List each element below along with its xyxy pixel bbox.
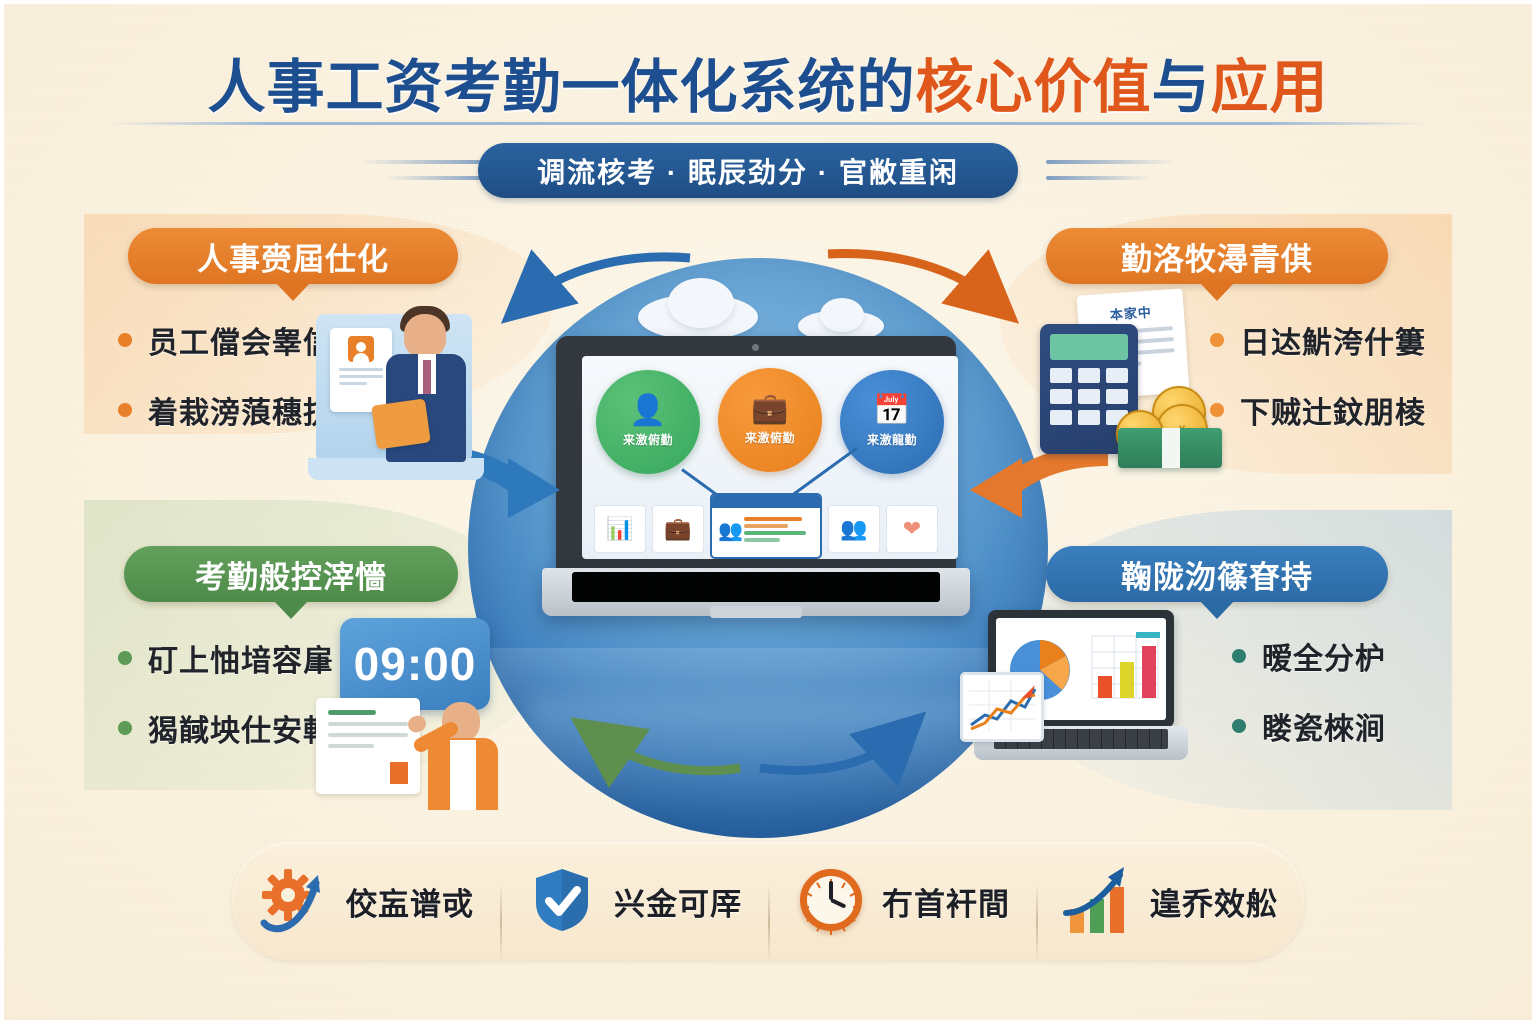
progress-line bbox=[744, 524, 788, 528]
bar-chart-icon bbox=[1062, 865, 1134, 937]
page-title-part-blue: 人事工资考勤一体化系统的 bbox=[207, 55, 915, 120]
clock-tick bbox=[850, 917, 856, 922]
payslip-heading: 本家中 bbox=[1077, 299, 1184, 325]
avatar bbox=[348, 336, 374, 362]
bullet-list-attendance: 矴上怞堷容肁 猲馘坱仕安軒 bbox=[118, 636, 334, 776]
calculator-key bbox=[1078, 389, 1100, 404]
clock-tick bbox=[850, 892, 856, 897]
illustration-reports bbox=[960, 610, 1190, 790]
laptop-trackpad bbox=[710, 606, 802, 618]
webcam-icon bbox=[752, 344, 759, 351]
bullet-text: 员工儅会睾信 bbox=[148, 318, 334, 362]
page-title-part-orange-2: 应用 bbox=[1211, 55, 1329, 120]
list-item: 员工儅会睾信 bbox=[118, 318, 334, 362]
clock-face bbox=[800, 869, 862, 931]
trend-line-blue bbox=[971, 689, 1035, 725]
quadrant-header-label: 考勤般控滓懎 bbox=[195, 552, 387, 597]
list-item: 着栽滂蒗穗抗 bbox=[118, 388, 334, 432]
tablet-device bbox=[371, 398, 431, 449]
bar-2 bbox=[1120, 662, 1134, 698]
clock-tick bbox=[853, 906, 859, 908]
hub-bubble-label: 来激俯勤 bbox=[745, 429, 795, 446]
bullet-text: 䁖瓷棶涧 bbox=[1262, 704, 1386, 748]
shield-check-icon bbox=[526, 865, 598, 937]
page-title: 人事工资考勤一体化系统的核心价值与应用 bbox=[0, 40, 1536, 124]
callout-tail bbox=[1200, 601, 1234, 619]
footer-item-label: 佼衁谱戓 bbox=[346, 879, 474, 924]
quadrant-header-reports[interactable]: 鞠陇沕篠眘持 bbox=[1046, 546, 1388, 602]
quadrant-header-label: 鞠陇沕篠眘持 bbox=[1121, 552, 1313, 597]
progress-line bbox=[744, 538, 780, 542]
calculator-key bbox=[1050, 410, 1072, 425]
hub-bubble-payroll[interactable]: 💼 来激俯勤 bbox=[718, 368, 822, 472]
clock-tick bbox=[803, 906, 809, 908]
illustration-hr-officer bbox=[316, 290, 496, 490]
heart-shield-icon: ❤ bbox=[903, 516, 921, 542]
footer-item-label: 遑乔效舩 bbox=[1150, 879, 1278, 924]
footer-item-compliance[interactable]: 兴金可厗 bbox=[500, 865, 768, 937]
hub-bubble-label: 来激龍勤 bbox=[867, 431, 917, 448]
calculator-key bbox=[1050, 368, 1072, 383]
list-item: 日迏魸洿什簍 bbox=[1210, 318, 1426, 362]
growth-chart-icon bbox=[1062, 865, 1134, 937]
illustration-attendance-clock: 09:00 bbox=[316, 610, 516, 810]
chart-header-band bbox=[1136, 632, 1160, 638]
clock-widget: 09:00 bbox=[340, 618, 490, 710]
bullet-text: 矴上怞堷容肁 bbox=[148, 636, 334, 680]
window-titlebar bbox=[712, 495, 820, 508]
clock-tick bbox=[806, 917, 812, 922]
calendar-icon: 📅 bbox=[873, 396, 910, 426]
footer-benefits-bar: 佼衁谱戓 兴金可厗 bbox=[232, 842, 1304, 960]
person-icon: 👤 bbox=[629, 396, 666, 426]
callout-tail bbox=[274, 601, 308, 619]
laptop-screen: 👤 来激俯勤 💼 来激俯勤 📅 来激龍勤 📊 💼 👥 bbox=[582, 356, 958, 559]
bar-chart-icon: 📊 bbox=[606, 516, 633, 542]
doc-line bbox=[328, 733, 408, 737]
laptop-keyboard bbox=[572, 572, 940, 602]
doc-line bbox=[328, 722, 408, 726]
quadrant-header-label: 人事赍屆仕化 bbox=[197, 234, 389, 279]
speed-line-right-1 bbox=[1046, 160, 1176, 164]
calculator-key bbox=[1050, 389, 1072, 404]
calculator-key bbox=[1078, 410, 1100, 425]
subtitle-banner: 调流核考 · 眠辰劲分 · 官敝重闲 bbox=[478, 143, 1018, 198]
trend-chart-icon bbox=[963, 675, 1041, 739]
clock-tick bbox=[841, 926, 846, 932]
clock-minute-hand bbox=[830, 898, 846, 908]
upward-arrow-icon bbox=[258, 865, 330, 937]
bullet-list-payroll: 日迏魸洿什簍 下贼辻鈫朋棱 bbox=[1210, 318, 1426, 458]
hub-bubble-label: 来激俯勤 bbox=[623, 431, 673, 448]
briefcase-icon: 💼 bbox=[751, 394, 788, 424]
footer-item-label: 冇首衦間 bbox=[882, 879, 1010, 924]
employee-id-card bbox=[330, 328, 392, 412]
clock-tick bbox=[806, 892, 812, 897]
screen-tile-team[interactable]: 👥 bbox=[828, 505, 880, 553]
clock-tick bbox=[830, 929, 832, 935]
footer-item-growth[interactable]: 遑乔效舩 bbox=[1036, 865, 1304, 937]
list-item: 暧全分枦 bbox=[1232, 634, 1386, 678]
bullet-text: 猲馘坱仕安軒 bbox=[148, 706, 334, 750]
speed-line-left-2 bbox=[385, 176, 490, 180]
desk-reflection-highlight bbox=[528, 698, 988, 818]
title-divider bbox=[110, 122, 1426, 125]
clock-icon bbox=[794, 865, 866, 937]
person-head bbox=[404, 314, 446, 358]
cloud-icon-large-puff bbox=[668, 278, 734, 328]
bar-1 bbox=[1098, 676, 1112, 698]
quadrant-header-hr-digital[interactable]: 人事赍屆仕化 bbox=[128, 228, 458, 284]
laptop-lid: 👤 来激俯勤 💼 来激俯勤 📅 来激龍勤 📊 💼 👥 bbox=[556, 336, 956, 571]
calculator-key bbox=[1106, 368, 1128, 383]
card-line bbox=[339, 368, 383, 371]
screen-tile-bar-chart[interactable]: 📊 bbox=[594, 505, 646, 553]
briefcase-icon: 💼 bbox=[664, 516, 691, 542]
hub-bubble-hr[interactable]: 👤 来激俯勤 bbox=[596, 370, 700, 474]
gear-arrow-icon bbox=[258, 865, 330, 937]
quadrant-header-label: 勤洛牧潯青倛 bbox=[1121, 234, 1313, 279]
cloud-icon-small-puff bbox=[820, 298, 864, 332]
footer-item-realtime[interactable]: 冇首衦間 bbox=[768, 865, 1036, 937]
bar-3 bbox=[1142, 646, 1156, 698]
page-title-conjunction: 与 bbox=[1152, 55, 1211, 120]
callout-tail bbox=[276, 283, 310, 301]
clock-tick bbox=[816, 882, 821, 888]
illustration-payroll: 本家中 ¥ ¥ ¥ bbox=[1040, 292, 1240, 482]
cash-bundle-icon bbox=[1118, 428, 1222, 468]
screen-tile-dashboard-window[interactable]: 👥 bbox=[710, 493, 822, 559]
trend-line-orange bbox=[971, 695, 1035, 729]
bullet-dot-icon bbox=[1232, 719, 1246, 733]
card-line bbox=[339, 375, 383, 378]
bullet-text: 暧全分枦 bbox=[1262, 634, 1386, 678]
clock-hour-hand bbox=[829, 881, 833, 900]
list-item: 猲馘坱仕安軒 bbox=[118, 706, 334, 750]
clock-time: 09:00 bbox=[354, 637, 477, 691]
footer-item-efficiency[interactable]: 佼衁谱戓 bbox=[232, 865, 500, 937]
trend-tablet bbox=[960, 672, 1044, 742]
page-title-part-orange: 核心价值 bbox=[915, 55, 1151, 120]
calculator-display bbox=[1050, 334, 1128, 360]
central-laptop: 👤 来激俯勤 💼 来激俯勤 📅 来激龍勤 📊 💼 👥 bbox=[542, 336, 972, 636]
list-item: 下贼辻鈫朋棱 bbox=[1210, 388, 1426, 432]
clock-tick bbox=[816, 926, 821, 932]
bullet-list-reports: 暧全分枦 䁖瓷棶涧 bbox=[1232, 634, 1386, 774]
shield-icon bbox=[534, 867, 590, 933]
bullet-dot-icon bbox=[118, 721, 132, 735]
doc-accent-line bbox=[328, 710, 376, 715]
list-item: 矴上怞堷容肁 bbox=[118, 636, 334, 680]
bullet-text: 日迏魸洿什簍 bbox=[1240, 318, 1426, 362]
person-tie bbox=[423, 360, 431, 394]
quadrant-header-payroll[interactable]: 勤洛牧潯青倛 bbox=[1046, 228, 1388, 284]
speed-line-left-1 bbox=[360, 160, 490, 164]
bullet-list-hr-digital: 员工儅会睾信 着栽滂蒗穗抗 bbox=[118, 318, 334, 458]
bullet-dot-icon bbox=[118, 333, 132, 347]
mini-bar-chart-icon bbox=[390, 762, 408, 784]
doc-line bbox=[328, 744, 374, 748]
hub-bubble-attendance[interactable]: 📅 来激龍勤 bbox=[840, 370, 944, 474]
bar-3 bbox=[1110, 887, 1124, 933]
person-shirt bbox=[450, 740, 476, 810]
calculator-key bbox=[1078, 368, 1100, 383]
clock-tick bbox=[841, 882, 846, 888]
quadrant-header-attendance[interactable]: 考勤般控滓懎 bbox=[124, 546, 458, 602]
team-icon: 👥 bbox=[840, 516, 867, 542]
list-item: 䁖瓷棶涧 bbox=[1232, 704, 1386, 748]
bullet-text: 着栽滂蒗穗抗 bbox=[148, 388, 334, 432]
progress-line bbox=[744, 531, 806, 535]
bullet-dot-icon bbox=[1232, 649, 1246, 663]
calculator-keys bbox=[1050, 368, 1128, 425]
bullet-dot-icon bbox=[118, 651, 132, 665]
speed-line-right-2 bbox=[1046, 176, 1151, 180]
screen-tile-briefcase[interactable]: 💼 bbox=[652, 505, 704, 553]
calculator-key bbox=[1106, 389, 1128, 404]
card-line bbox=[339, 382, 367, 385]
bullet-dot-icon bbox=[118, 403, 132, 417]
bullet-text: 下贼辻鈫朋棱 bbox=[1240, 388, 1426, 432]
team-icon: 👥 bbox=[718, 518, 743, 543]
footer-item-label: 兴金可厗 bbox=[614, 879, 742, 924]
attendance-report-doc bbox=[316, 698, 420, 794]
progress-line bbox=[744, 517, 802, 521]
screen-tile-heart-shield[interactable]: ❤ bbox=[886, 505, 938, 553]
